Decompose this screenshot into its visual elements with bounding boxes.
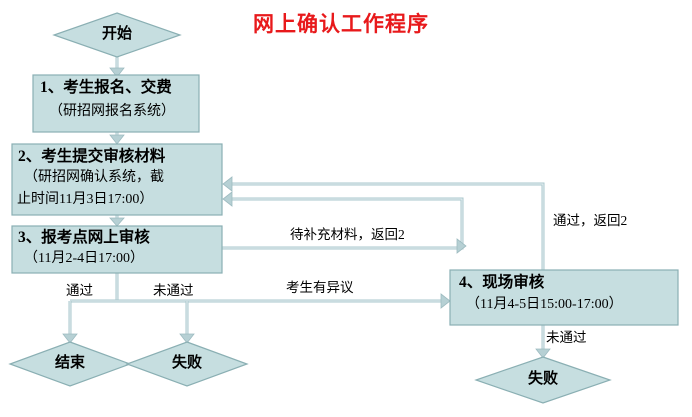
node-step2-detail-line1: （研招网确认系统，截 [24, 170, 164, 186]
edge-label-not-pass-left: 未通过 [153, 283, 194, 298]
connector-start-to-step1 [110, 56, 124, 77]
edge-label-not-pass-right: 未通过 [546, 330, 587, 345]
node-end-label: 结束 [10, 355, 130, 372]
page-title: 网上确认工作程序 [253, 13, 429, 37]
connector-pass-return-to-step2 [223, 177, 543, 270]
node-step2-detail-line2: 止时间11月3日17:00） [17, 192, 153, 208]
connector-supplement-return-to-step2 [222, 192, 466, 253]
edge-label-pass: 通过 [66, 283, 93, 298]
connector-pass-to-end [63, 301, 77, 343]
node-start-label: 开始 [54, 26, 180, 43]
edge-label-supplement-return2: 待补充材料，返回2 [290, 227, 405, 242]
edge-label-candidate-objection: 考生有异议 [286, 280, 354, 295]
node-step3-detail: （11月2-4日17:00） [24, 251, 144, 267]
node-fail-left-label: 失败 [127, 355, 247, 372]
node-step4-title: 4、现场审核 [459, 274, 544, 291]
connector-objection-to-step4 [70, 294, 450, 308]
edge-label-pass-return2: 通过，返回2 [553, 213, 627, 228]
node-step1-title: 1、考生报名、交费 [40, 79, 172, 96]
flowchart-canvas: 网上确认工作程序 开始 1、考生报名、交费 （研招网报名系统） 2、考生提交审核… [0, 0, 692, 417]
connector-notpass-to-fail-left [180, 301, 194, 343]
connector-step1-to-step2 [110, 132, 124, 144]
node-step4-detail: （11月4-5日15:00-17:00） [466, 297, 623, 313]
node-step2-title: 2、考生提交审核材料 [18, 148, 165, 165]
connector-step2-to-step3 [110, 215, 124, 226]
node-step3-title: 3、报考点网上审核 [18, 229, 150, 246]
node-step1-detail: （研招网报名系统） [49, 104, 175, 120]
node-fail-right-label: 失败 [476, 371, 610, 388]
